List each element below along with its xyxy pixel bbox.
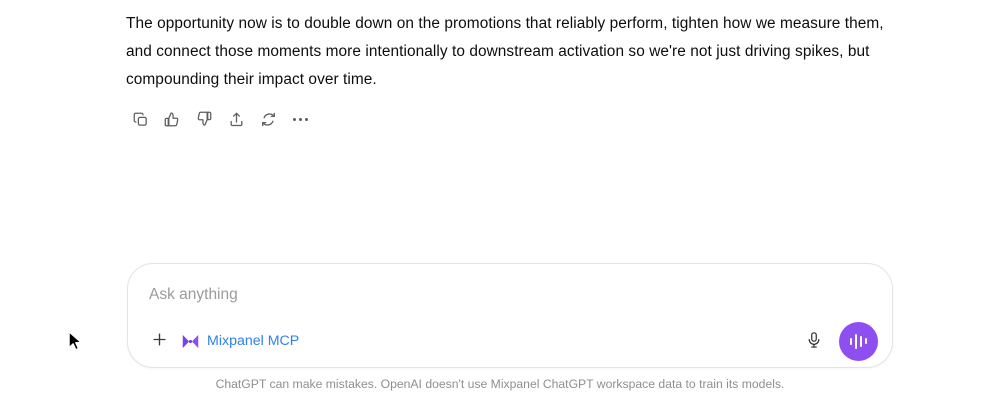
assistant-message-text: The opportunity now is to double down on… bbox=[126, 10, 884, 94]
composer-input[interactable] bbox=[149, 284, 849, 306]
share-button[interactable] bbox=[220, 104, 252, 134]
add-attachment-button[interactable] bbox=[146, 328, 172, 354]
message-composer[interactable]: Mixpanel MCP bbox=[127, 263, 893, 368]
disclaimer-text: ChatGPT can make mistakes. OpenAI doesn'… bbox=[0, 376, 1000, 393]
assistant-message: The opportunity now is to double down on… bbox=[126, 10, 884, 94]
composer-right-tools bbox=[800, 322, 878, 361]
composer-left-tools: Mixpanel MCP bbox=[146, 328, 305, 354]
thumbs-down-icon bbox=[195, 110, 213, 128]
dictate-button[interactable] bbox=[800, 327, 828, 355]
plus-icon bbox=[150, 330, 169, 352]
mcp-connector-chip[interactable]: Mixpanel MCP bbox=[178, 329, 305, 354]
microphone-icon bbox=[805, 331, 823, 352]
voice-mode-button[interactable] bbox=[839, 322, 878, 361]
copy-button[interactable] bbox=[124, 104, 156, 134]
composer-toolbar: Mixpanel MCP bbox=[128, 315, 892, 367]
message-action-bar bbox=[124, 104, 316, 134]
regenerate-icon bbox=[260, 111, 277, 128]
more-options-button[interactable] bbox=[284, 104, 316, 134]
mcp-connector-label: Mixpanel MCP bbox=[207, 332, 299, 351]
thumbs-up-button[interactable] bbox=[156, 104, 188, 134]
mouse-cursor bbox=[68, 331, 84, 353]
share-icon bbox=[228, 111, 245, 128]
chatgpt-conversation-view: The opportunity now is to double down on… bbox=[0, 0, 1000, 400]
voice-waveform-icon bbox=[850, 332, 868, 350]
thumbs-down-button[interactable] bbox=[188, 104, 220, 134]
regenerate-button[interactable] bbox=[252, 104, 284, 134]
mixpanel-logo-icon bbox=[181, 332, 200, 351]
more-options-icon bbox=[293, 118, 308, 121]
copy-icon bbox=[132, 111, 149, 128]
thumbs-up-icon bbox=[163, 110, 181, 128]
